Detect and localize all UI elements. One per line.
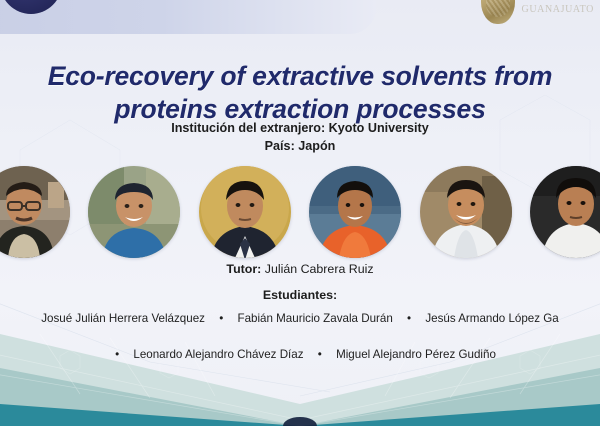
student-name: Josué Julián Herrera Velázquez bbox=[41, 312, 205, 325]
student-name: Miguel Alejandro Pérez Gudiño bbox=[336, 348, 496, 361]
gto-logo-icon: GTO Gobierno del Estado bbox=[0, 0, 62, 14]
poster-slide: GTO Gobierno del Estado de Educación de … bbox=[0, 0, 600, 426]
separator-bullet: • bbox=[104, 348, 130, 361]
guanajuato-label: GUANAJUATO bbox=[522, 4, 594, 15]
portrait-photo-3 bbox=[199, 166, 291, 258]
guanajuato-crest-icon bbox=[481, 0, 515, 24]
separator-bullet: • bbox=[307, 348, 333, 361]
student-name: Leonardo Alejandro Chávez Díaz bbox=[133, 348, 303, 361]
tutor-name: Julián Cabrera Ruiz bbox=[265, 262, 374, 276]
students-row-2: • Leonardo Alejandro Chávez Díaz • Migue… bbox=[0, 348, 600, 361]
separator-bullet: • bbox=[208, 312, 234, 325]
students-row-1: Josué Julián Herrera Velázquez • Fabián … bbox=[0, 312, 600, 325]
separator-bullet: • bbox=[396, 312, 422, 325]
title-line-1: Eco-recovery of extractive solvents from bbox=[48, 61, 553, 91]
tutor-line: Tutor: Julián Cabrera Ruiz bbox=[0, 262, 600, 276]
institution-line: Institución del extranjero: Kyoto Univer… bbox=[0, 119, 600, 137]
gto-logo-plate: GTO Gobierno del Estado de Educación de … bbox=[0, 0, 376, 34]
portrait-photo-1 bbox=[0, 166, 70, 258]
institution-info: Institución del extranjero: Kyoto Univer… bbox=[0, 119, 600, 156]
portrait-photo-5 bbox=[420, 166, 512, 258]
students-label: Estudiantes: bbox=[0, 288, 600, 302]
student-name: Fabián Mauricio Zavala Durán bbox=[237, 312, 392, 325]
page-title: Eco-recovery of extractive solvents from… bbox=[0, 60, 600, 127]
portrait-photo-4 bbox=[309, 166, 401, 258]
student-name: Jesús Armando López Ga bbox=[425, 312, 558, 325]
country-line: País: Japón bbox=[0, 137, 600, 155]
poster-header: GTO Gobierno del Estado de Educación de … bbox=[0, 0, 600, 36]
portrait-photo-2 bbox=[88, 166, 180, 258]
portrait-row bbox=[0, 166, 600, 262]
portrait-photo-6 bbox=[530, 166, 600, 258]
tutor-label: Tutor: bbox=[226, 262, 261, 276]
